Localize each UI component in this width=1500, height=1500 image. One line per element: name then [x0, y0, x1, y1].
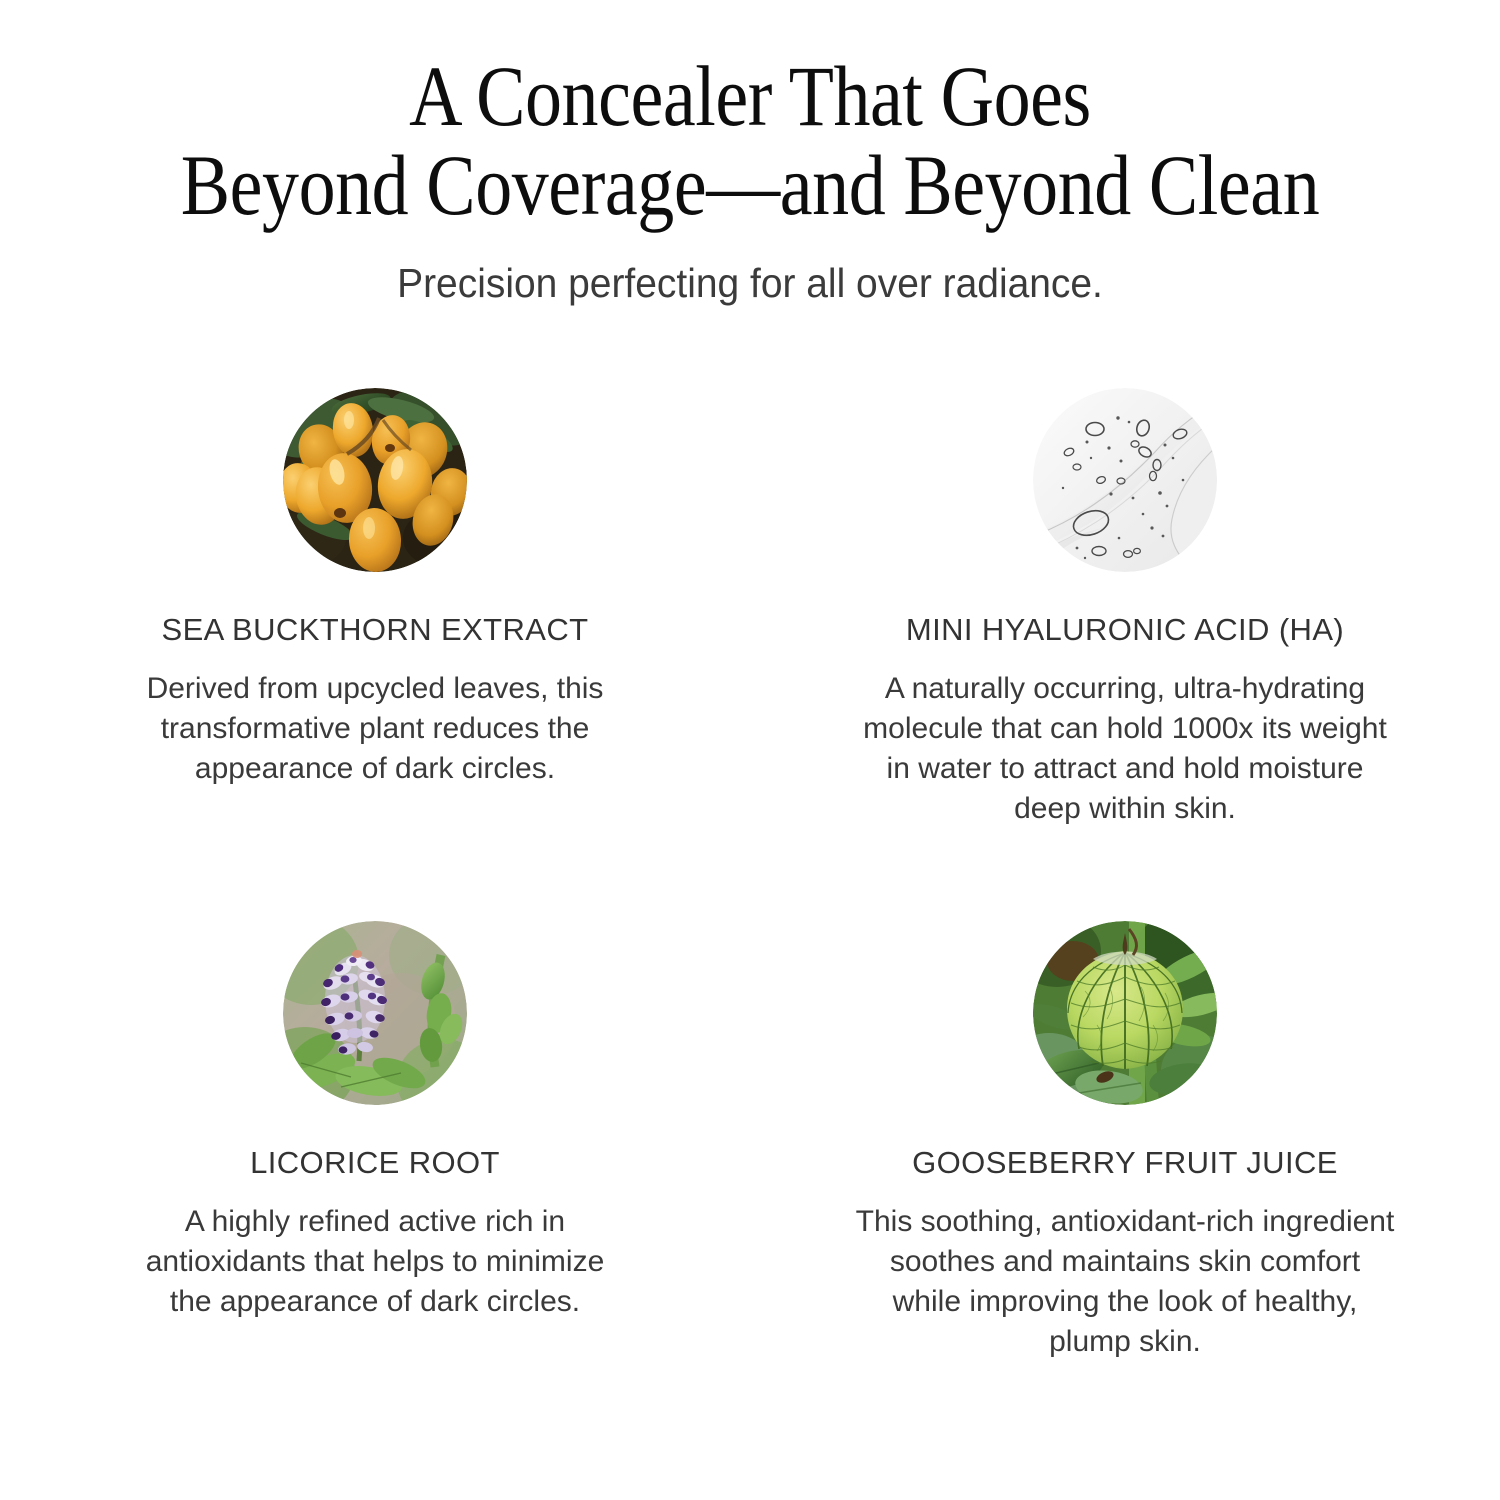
ingredient-card-licorice-root: LICORICE ROOT A highly refined active ri… [0, 921, 750, 1362]
headline-line-2: Beyond Coverage—and Beyond Clean [105, 141, 1395, 230]
page-subtitle: Precision perfecting for all over radian… [38, 259, 1463, 308]
ingredient-title: SEA BUCKTHORN EXTRACT [162, 614, 589, 645]
page-header: A Concealer That Goes Beyond Coverage—an… [0, 52, 1500, 308]
ingredient-card-sea-buckthorn-extract: SEA BUCKTHORN EXTRACT Derived from upcyc… [0, 388, 750, 921]
ingredient-card-gooseberry-fruit-juice: GOOSEBERRY FRUIT JUICE This soothing, an… [750, 921, 1500, 1362]
cape-gooseberry-husk-photo [1033, 921, 1217, 1105]
headline-line-1: A Concealer That Goes [105, 52, 1395, 141]
ingredient-description: This soothing, antioxidant-rich ingredie… [855, 1202, 1395, 1362]
ingredient-title: LICORICE ROOT [250, 1147, 500, 1178]
ingredient-description: A naturally occurring, ultra-hydrating m… [855, 669, 1395, 829]
ingredient-description: A highly refined active rich in antioxid… [135, 1202, 615, 1322]
ingredient-description: Derived from upcycled leaves, this trans… [135, 669, 615, 789]
clear-hyaluronic-gel-texture-photo [1033, 388, 1217, 572]
sea-buckthorn-berries-photo [283, 388, 467, 572]
ingredient-title: GOOSEBERRY FRUIT JUICE [912, 1147, 1338, 1178]
ingredient-benefits-page: A Concealer That Goes Beyond Coverage—an… [0, 0, 1500, 1500]
ingredient-grid: SEA BUCKTHORN EXTRACT Derived from upcyc… [0, 388, 1500, 1362]
licorice-root-flower-photo [283, 921, 467, 1105]
page-title: A Concealer That Goes Beyond Coverage—an… [105, 52, 1395, 229]
ingredient-title: MINI HYALURONIC ACID (HA) [906, 614, 1344, 645]
ingredient-card-mini-hyaluronic-acid: MINI HYALURONIC ACID (HA) A naturally oc… [750, 388, 1500, 921]
